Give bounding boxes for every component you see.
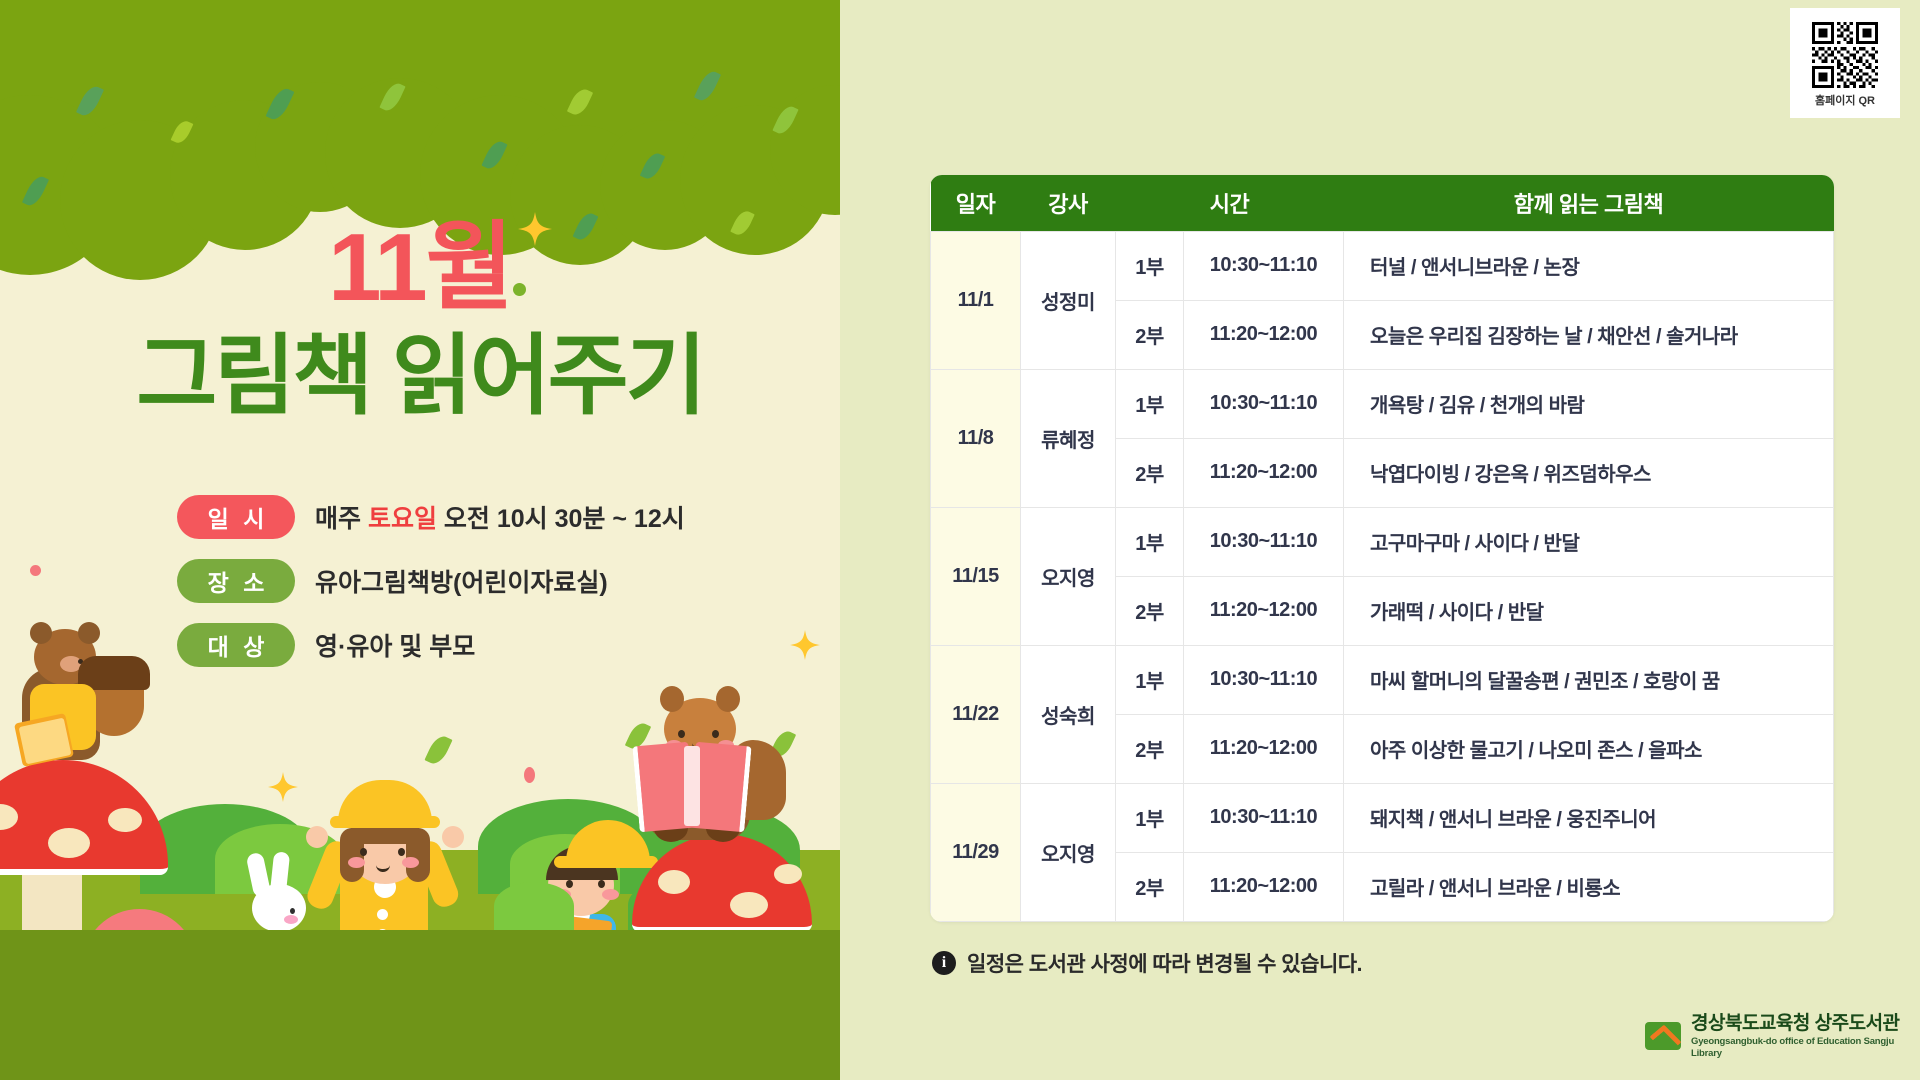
column-header-time: 시간	[1116, 175, 1344, 231]
notice-text: 일정은 도서관 사정에 따라 변경될 수 있습니다.	[967, 948, 1362, 978]
info-text-datetime-highlight: 토요일	[368, 505, 437, 533]
cell-teacher: 류혜정	[1021, 369, 1116, 507]
cell-time: 10:30~11:10	[1184, 645, 1344, 714]
schedule-table-head: 일자 강사 시간 함께 읽는 그림책	[931, 175, 1834, 231]
cell-part: 1부	[1116, 645, 1184, 714]
footer-logo: 경상북도교육청 상주도서관 Gyeongsangbuk-do office of…	[1645, 1012, 1920, 1060]
cell-time: 11:20~12:00	[1184, 438, 1344, 507]
poster-title-main: 그림책 읽어주기	[0, 325, 840, 426]
qr-card[interactable]: 홈페이지 QR	[1790, 8, 1900, 118]
notice-row: i 일정은 도서관 사정에 따라 변경될 수 있습니다.	[932, 948, 1362, 978]
cell-part: 2부	[1116, 576, 1184, 645]
info-text-datetime-pre: 매주	[315, 505, 368, 533]
cell-book: 터널 / 앤서니브라운 / 논장	[1344, 231, 1834, 300]
cell-time: 11:20~12:00	[1184, 300, 1344, 369]
cell-time: 11:20~12:00	[1184, 852, 1344, 921]
info-text-datetime: 매주 토요일 오전 10시 30분 ~ 12시	[315, 499, 685, 535]
cell-time: 11:20~12:00	[1184, 714, 1344, 783]
qr-code-image[interactable]	[1812, 22, 1878, 88]
schedule-row: 11/8류혜정1부10:30~11:10개욕탕 / 김유 / 천개의 바람	[931, 369, 1834, 438]
poster-left-panel: 11월 그림책 읽어주기 일 시 매주 토요일 오전 10시 30분 ~ 12시…	[0, 0, 840, 1080]
cell-time: 10:30~11:10	[1184, 369, 1344, 438]
poster-right-panel: 홈페이지 QR 일자 강사 시간 함께 읽는 그림책 11/1성정미1부10:3…	[840, 0, 1920, 1080]
cell-part: 1부	[1116, 231, 1184, 300]
tree-canopy-decoration	[0, 0, 840, 205]
info-text-datetime-post: 오전 10시 30분 ~ 12시	[437, 505, 685, 533]
column-header-teacher: 강사	[1021, 175, 1116, 231]
leaf-decoration	[567, 86, 593, 118]
schedule-table-body: 11/1성정미1부10:30~11:10터널 / 앤서니브라운 / 논장2부11…	[931, 231, 1834, 921]
cell-part: 2부	[1116, 852, 1184, 921]
cell-time: 10:30~11:10	[1184, 507, 1344, 576]
info-row-place: 장 소 유아그림책방(어린이자료실)	[177, 559, 777, 603]
cell-part: 2부	[1116, 714, 1184, 783]
cell-date: 11/15	[931, 507, 1021, 645]
cell-book: 개욕탕 / 김유 / 천개의 바람	[1344, 369, 1834, 438]
info-icon: i	[932, 951, 956, 975]
cell-date: 11/1	[931, 231, 1021, 369]
schedule-row: 11/29오지영1부10:30~11:10돼지책 / 앤서니 브라운 / 웅진주…	[931, 783, 1834, 852]
cell-time: 10:30~11:10	[1184, 231, 1344, 300]
bush-decoration	[494, 882, 574, 930]
column-header-book: 함께 읽는 그림책	[1344, 175, 1834, 231]
leaf-decoration	[694, 68, 721, 103]
cell-part: 1부	[1116, 783, 1184, 852]
sparkle-icon	[268, 772, 298, 802]
info-badge-datetime: 일 시	[177, 495, 295, 539]
berry-decoration	[524, 767, 535, 783]
logo-text-english: Gyeongsangbuk-do office of Education San…	[1691, 1036, 1920, 1060]
cell-part: 1부	[1116, 369, 1184, 438]
schedule-header-row: 일자 강사 시간 함께 읽는 그림책	[931, 175, 1834, 231]
cell-time: 11:20~12:00	[1184, 576, 1344, 645]
library-logo-icon	[1645, 1022, 1681, 1050]
poster-info-list: 일 시 매주 토요일 오전 10시 30분 ~ 12시 장 소 유아그림책방(어…	[177, 495, 777, 687]
cell-teacher: 오지영	[1021, 507, 1116, 645]
cell-book: 마씨 할머니의 달꿀송편 / 권민조 / 호랑이 꿈	[1344, 645, 1834, 714]
cell-teacher: 오지영	[1021, 783, 1116, 921]
info-text-place: 유아그림책방(어린이자료실)	[315, 563, 608, 599]
logo-text-korean: 경상북도교육청 상주도서관	[1691, 1012, 1920, 1036]
schedule-table-wrapper: 일자 강사 시간 함께 읽는 그림책 11/1성정미1부10:30~11:10터…	[930, 175, 1834, 922]
cell-book: 돼지책 / 앤서니 브라운 / 웅진주니어	[1344, 783, 1834, 852]
info-text-audience: 영·유아 및 부모	[315, 627, 475, 663]
cell-part: 2부	[1116, 438, 1184, 507]
cell-book: 오늘은 우리집 김장하는 날 / 채안선 / 솔거나라	[1344, 300, 1834, 369]
qr-label: 홈페이지 QR	[1815, 92, 1875, 108]
schedule-table: 일자 강사 시간 함께 읽는 그림책 11/1성정미1부10:30~11:10터…	[930, 175, 1834, 922]
logo-text-wrapper: 경상북도교육청 상주도서관 Gyeongsangbuk-do office of…	[1691, 1012, 1920, 1060]
leaf-decoration	[424, 733, 452, 767]
info-row-datetime: 일 시 매주 토요일 오전 10시 30분 ~ 12시	[177, 495, 777, 539]
schedule-row: 11/1성정미1부10:30~11:10터널 / 앤서니브라운 / 논장	[931, 231, 1834, 300]
schedule-row: 11/22성숙희1부10:30~11:10마씨 할머니의 달꿀송편 / 권민조 …	[931, 645, 1834, 714]
poster-title-month: 11월	[0, 215, 840, 321]
cell-date: 11/29	[931, 783, 1021, 921]
poster-title-block: 11월 그림책 읽어주기	[0, 215, 840, 426]
cell-time: 10:30~11:10	[1184, 783, 1344, 852]
cell-date: 11/22	[931, 645, 1021, 783]
cell-book: 고릴라 / 앤서니 브라운 / 비룡소	[1344, 852, 1834, 921]
cell-part: 1부	[1116, 507, 1184, 576]
cell-book: 고구마구마 / 사이다 / 반달	[1344, 507, 1834, 576]
cell-teacher: 성정미	[1021, 231, 1116, 369]
cell-book: 아주 이상한 물고기 / 나오미 존스 / 을파소	[1344, 714, 1834, 783]
cell-part: 2부	[1116, 300, 1184, 369]
cell-teacher: 성숙희	[1021, 645, 1116, 783]
schedule-row: 11/15오지영1부10:30~11:10고구마구마 / 사이다 / 반달	[931, 507, 1834, 576]
info-row-audience: 대 상 영·유아 및 부모	[177, 623, 777, 667]
ground-front-decoration	[0, 930, 840, 1080]
column-header-date: 일자	[931, 175, 1021, 231]
info-badge-place: 장 소	[177, 559, 295, 603]
info-badge-audience: 대 상	[177, 623, 295, 667]
cell-book: 가래떡 / 사이다 / 반달	[1344, 576, 1834, 645]
berry-decoration	[30, 565, 41, 576]
cell-date: 11/8	[931, 369, 1021, 507]
sparkle-icon	[790, 630, 820, 660]
cell-book: 낙엽다이빙 / 강은옥 / 위즈덤하우스	[1344, 438, 1834, 507]
leaf-decoration	[76, 83, 104, 119]
